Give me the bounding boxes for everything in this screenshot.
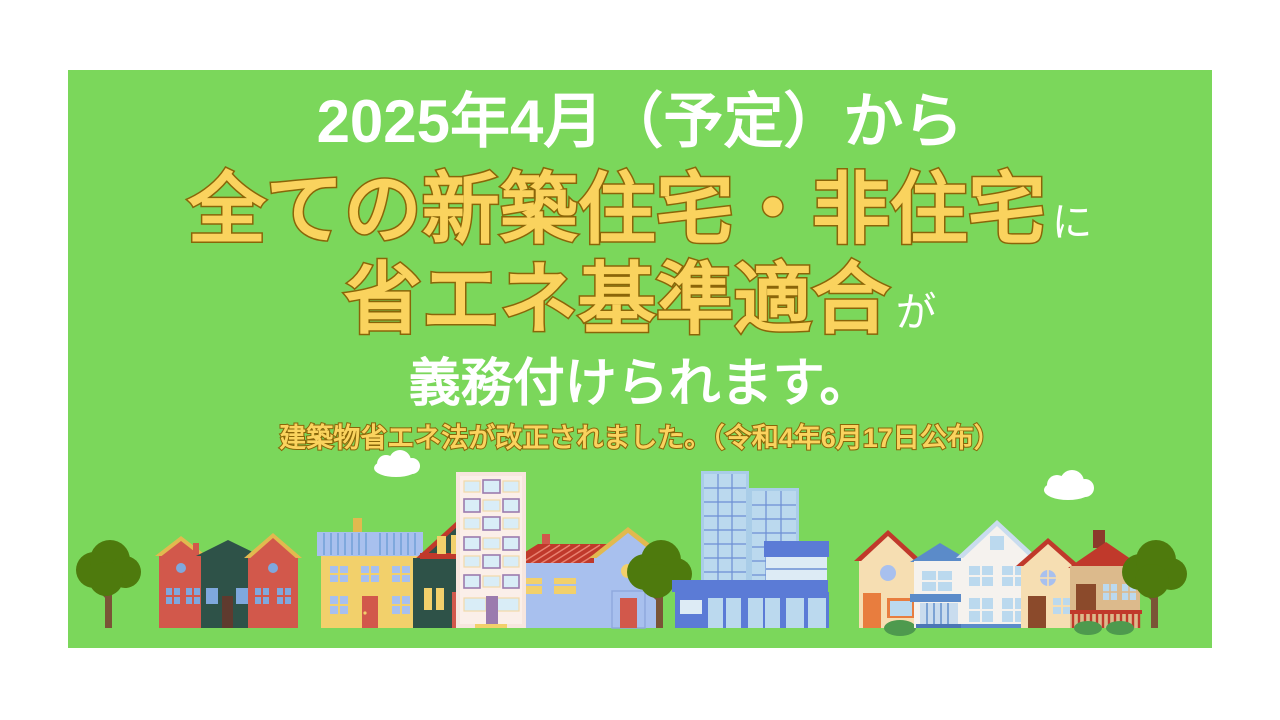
headline-line-4: 義務付けられます。 (68, 358, 1212, 410)
house-red-left (155, 536, 207, 628)
house-white-blue-two-story (910, 520, 1038, 628)
house-beige-porch (1016, 530, 1144, 635)
townscape-illustration (68, 448, 1212, 648)
poster-slide: 2025年4月（予定）から 全ての新築住宅・非住宅に 省エネ基準適合が 義務付け… (0, 0, 1280, 720)
tree-icon-left (76, 540, 141, 628)
green-content-panel: 2025年4月（予定）から 全ての新築住宅・非住宅に 省エネ基準適合が 義務付け… (68, 70, 1212, 648)
headline-line-2-emphasis: 全ての新築住宅・非住宅 (188, 165, 1046, 253)
headline-line-2-suffix: に (1052, 199, 1093, 245)
office-building (672, 471, 829, 628)
house-red-second (244, 533, 302, 628)
cloud-icon-right (1044, 470, 1094, 500)
headline-line-3: 省エネ基準適合が (68, 260, 1212, 338)
headline-line-1: 2025年4月（予定）から (68, 92, 1212, 152)
headline-line-3-suffix: が (896, 289, 937, 335)
cloud-icon-left (374, 450, 420, 477)
house-cream-left (854, 530, 922, 636)
headline-line-2: 全ての新築住宅・非住宅に (68, 170, 1212, 248)
house-yellow-two-story (317, 518, 423, 628)
apartment-building (456, 472, 526, 628)
headline-line-3-emphasis: 省エネ基準適合 (344, 255, 890, 343)
